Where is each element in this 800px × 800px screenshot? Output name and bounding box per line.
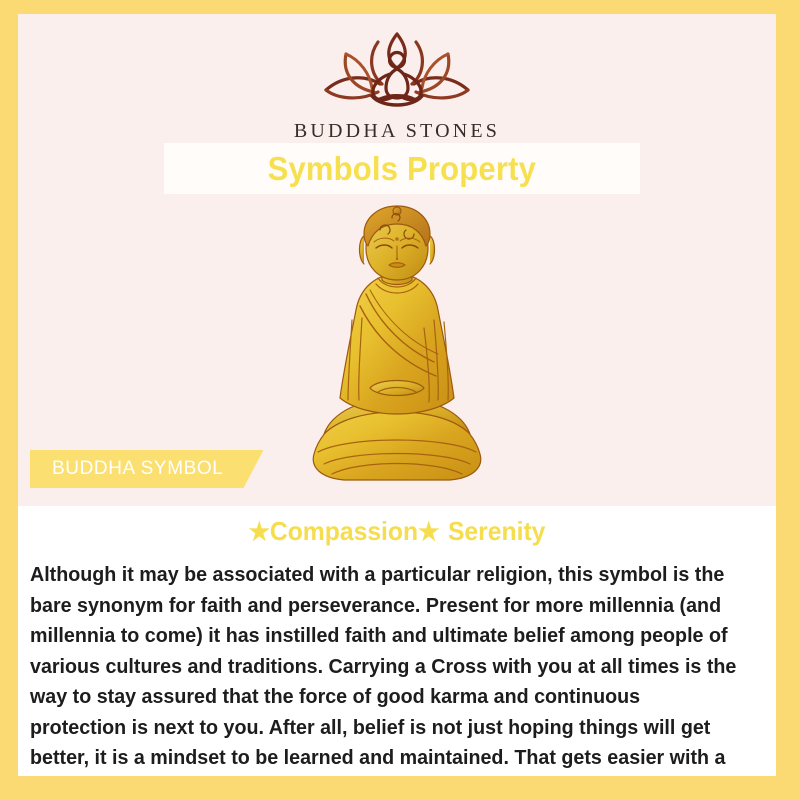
subtitle-word-1: Compassion [270,516,418,546]
subtitle-word-2: Serenity [448,516,545,546]
star-icon: ★ [418,518,439,546]
frame-right-bar [772,0,800,510]
title-banner: Symbols Property [164,143,640,194]
brand-name: BUDDHA STONES [18,120,776,143]
hero-image [18,202,776,492]
lotus-meditation-icon [312,30,482,116]
description-paragraph: Although it may be associated with a par… [30,560,740,776]
star-icon: ★ [249,518,270,546]
brand-block: BUDDHA STONES [18,30,776,143]
frame-top-bar [0,0,800,14]
content-card: BUDDHA STONES Symbols Property [18,14,776,776]
frame-bottom-bar [0,776,800,800]
ribbon-label: BUDDHA SYMBOL [52,458,223,480]
page-title: Symbols Property [268,150,536,188]
section-ribbon: BUDDHA SYMBOL [30,450,263,488]
subtitle: ★Compassion★Serenity [37,516,757,547]
promo-banner-page: BUDDHA STONES Symbols Property [0,0,800,800]
